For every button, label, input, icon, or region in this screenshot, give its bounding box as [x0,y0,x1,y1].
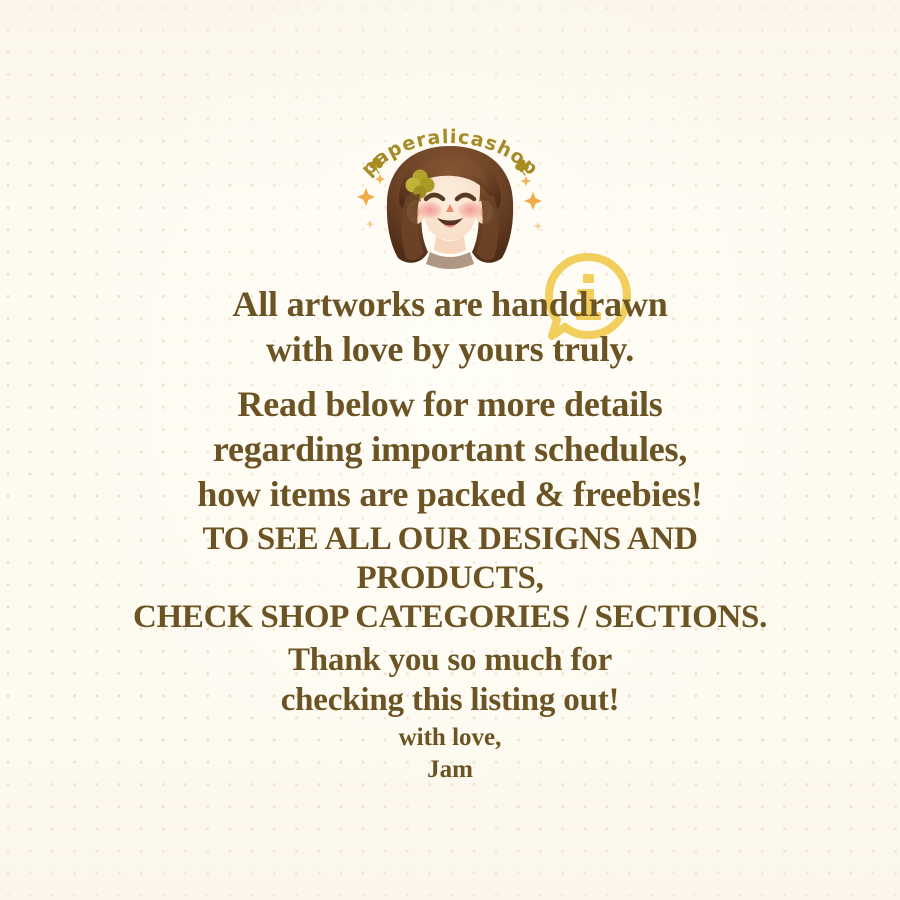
sparkle-icon [357,174,385,228]
signoff-line-1: with love, [0,722,900,754]
signoff-signature: Jam [0,754,900,786]
intro-line-1: All artworks are handdrawn [0,282,900,327]
intro-line-2: with love by yours truly. [0,327,900,372]
thanks-line-2: checking this listing out! [0,680,900,720]
categories-line-3: CHECK SHOP CATEGORIES / SECTIONS. [0,598,900,637]
intro-text-block: All artworks are handdrawn with love by … [0,282,900,372]
listing-info-card: paperalicashop [0,0,900,900]
signoff-text-block: with love, Jam [0,722,900,786]
categories-line-1: TO SEE ALL OUR DESIGNS AND [0,520,900,559]
categories-line-2: PRODUCTS, [0,559,900,598]
avatar [350,140,550,275]
details-line-1: Read below for more details [0,382,900,427]
details-line-3: how items are packed & freebies! [0,472,900,517]
thanks-line-1: Thank you so much for [0,640,900,680]
details-text-block: Read below for more details regarding im… [0,382,900,517]
categories-text-block: TO SEE ALL OUR DESIGNS AND PRODUCTS, CHE… [0,520,900,637]
sparkle-icon [521,176,542,230]
collar [426,252,474,269]
blush-right [457,201,483,219]
details-line-2: regarding important schedules, [0,427,900,472]
shop-logo: paperalicashop [342,118,558,278]
thanks-text-block: Thank you so much for checking this list… [0,640,900,720]
blush-left [417,201,443,219]
header: paperalicashop [0,118,900,288]
